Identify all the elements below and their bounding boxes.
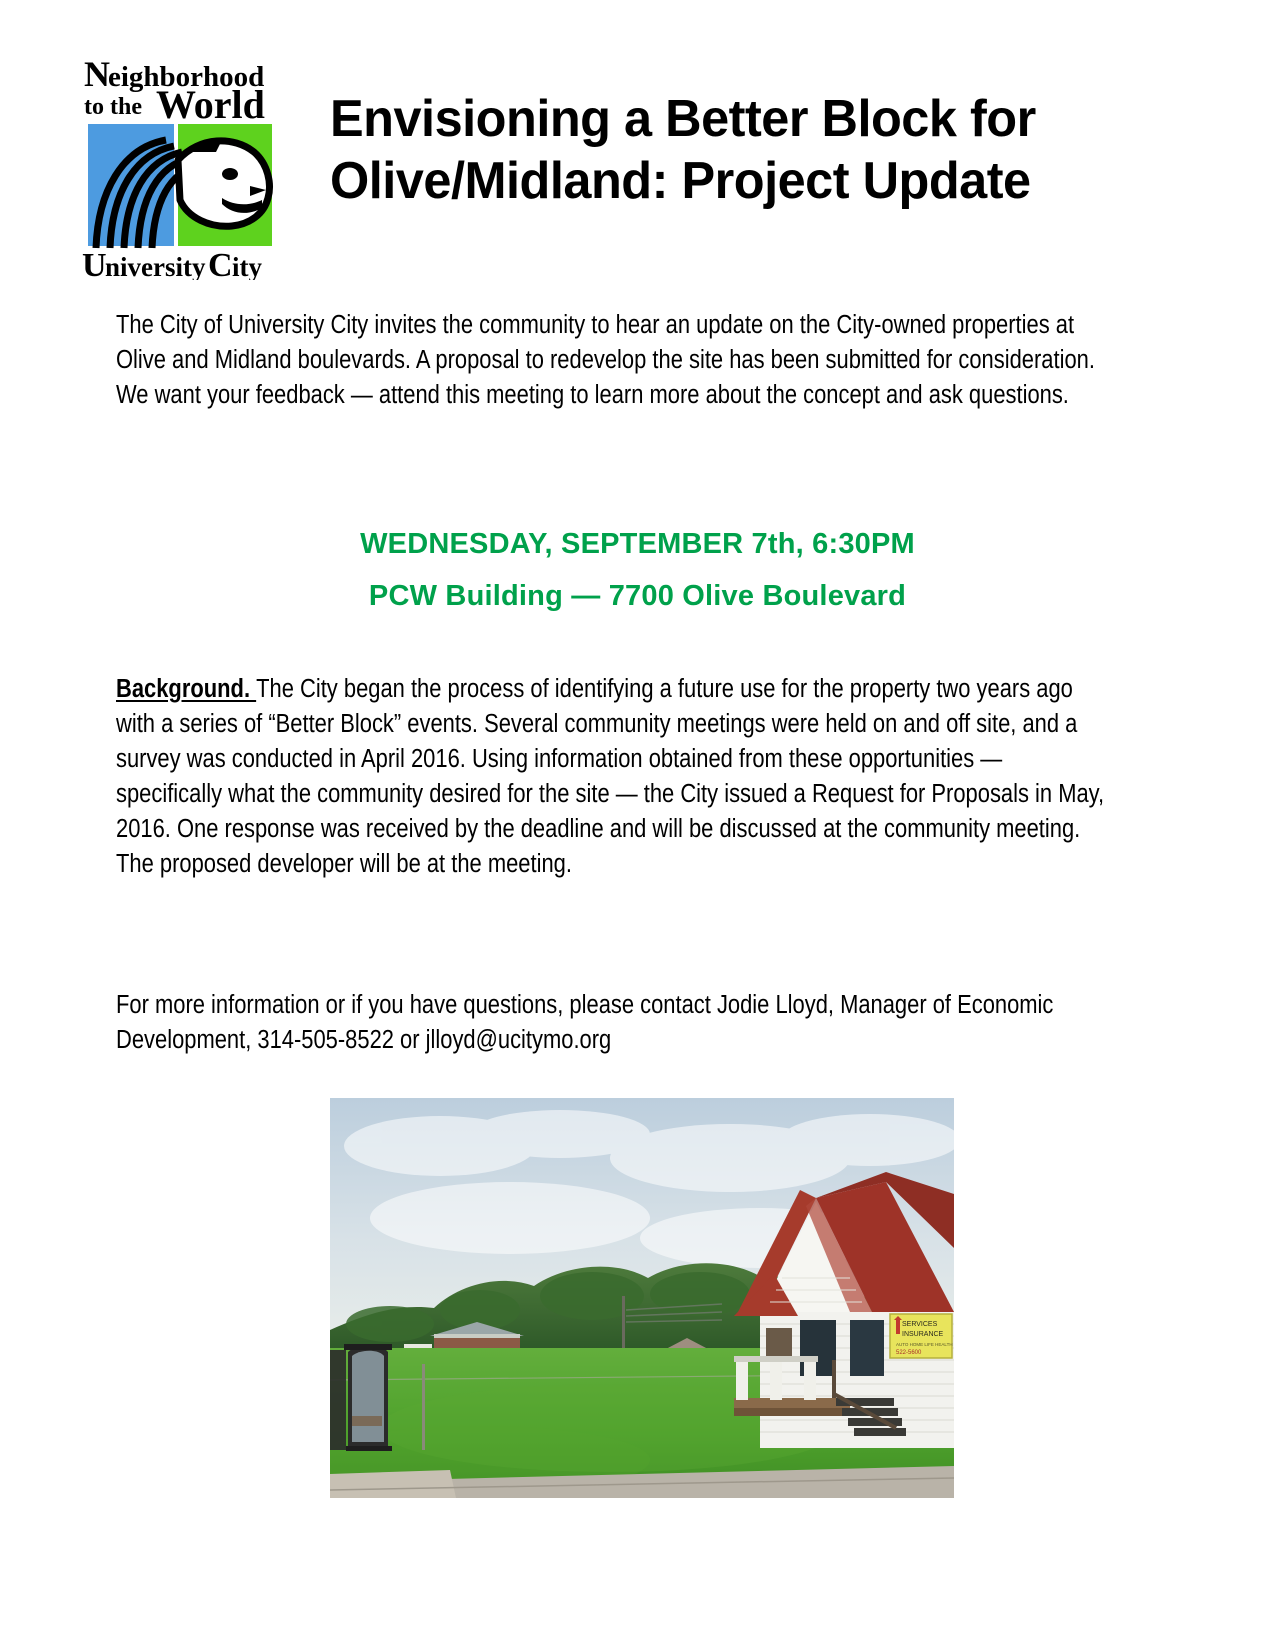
svg-text:C: C — [208, 247, 233, 280]
svg-text:ity: ity — [232, 252, 262, 280]
site-photo-image: SERVICES INSURANCE AUTO HOME LIFE HEALTH… — [330, 1098, 954, 1498]
title-line-2: Olive/Midland: Project Update — [330, 150, 1096, 212]
page-title: Envisioning a Better Block for Olive/Mid… — [330, 88, 1120, 212]
svg-text:World: World — [156, 82, 265, 127]
flyer-page: N eighborhood to the World — [0, 0, 1275, 1650]
background-paragraph: The City began the process of identifyin… — [116, 675, 1104, 878]
svg-text:to the: to the — [84, 94, 142, 120]
photo-sign-line1: SERVICES — [902, 1321, 938, 1328]
flyer-header: N eighborhood to the World — [0, 0, 1275, 290]
svg-text:AUTO HOME LIFE HEALTH: AUTO HOME LIFE HEALTH — [896, 1342, 953, 1347]
title-line-1: Envisioning a Better Block for — [330, 88, 1096, 150]
contact-paragraph: For more information or if you have ques… — [116, 988, 1114, 1058]
svg-text:522-5600: 522-5600 — [896, 1350, 922, 1356]
site-photo: SERVICES INSURANCE AUTO HOME LIFE HEALTH… — [330, 1098, 954, 1498]
event-details: WEDNESDAY, SEPTEMBER 7th, 6:30PM PCW Bui… — [0, 518, 1275, 622]
svg-text:niversity: niversity — [105, 252, 206, 280]
photo-sign-line2: INSURANCE — [902, 1331, 944, 1338]
background-section: Background. The City began the process o… — [116, 672, 1114, 882]
event-date-time: WEDNESDAY, SEPTEMBER 7th, 6:30PM — [0, 518, 1275, 570]
event-location: PCW Building — 7700 Olive Boulevard — [0, 570, 1275, 622]
svg-text:N: N — [84, 54, 110, 94]
intro-paragraph: The City of University City invites the … — [116, 308, 1114, 413]
svg-text:U: U — [82, 247, 107, 280]
background-lead-in: Background. — [116, 675, 256, 703]
university-city-logo: N eighborhood to the World — [82, 52, 278, 280]
